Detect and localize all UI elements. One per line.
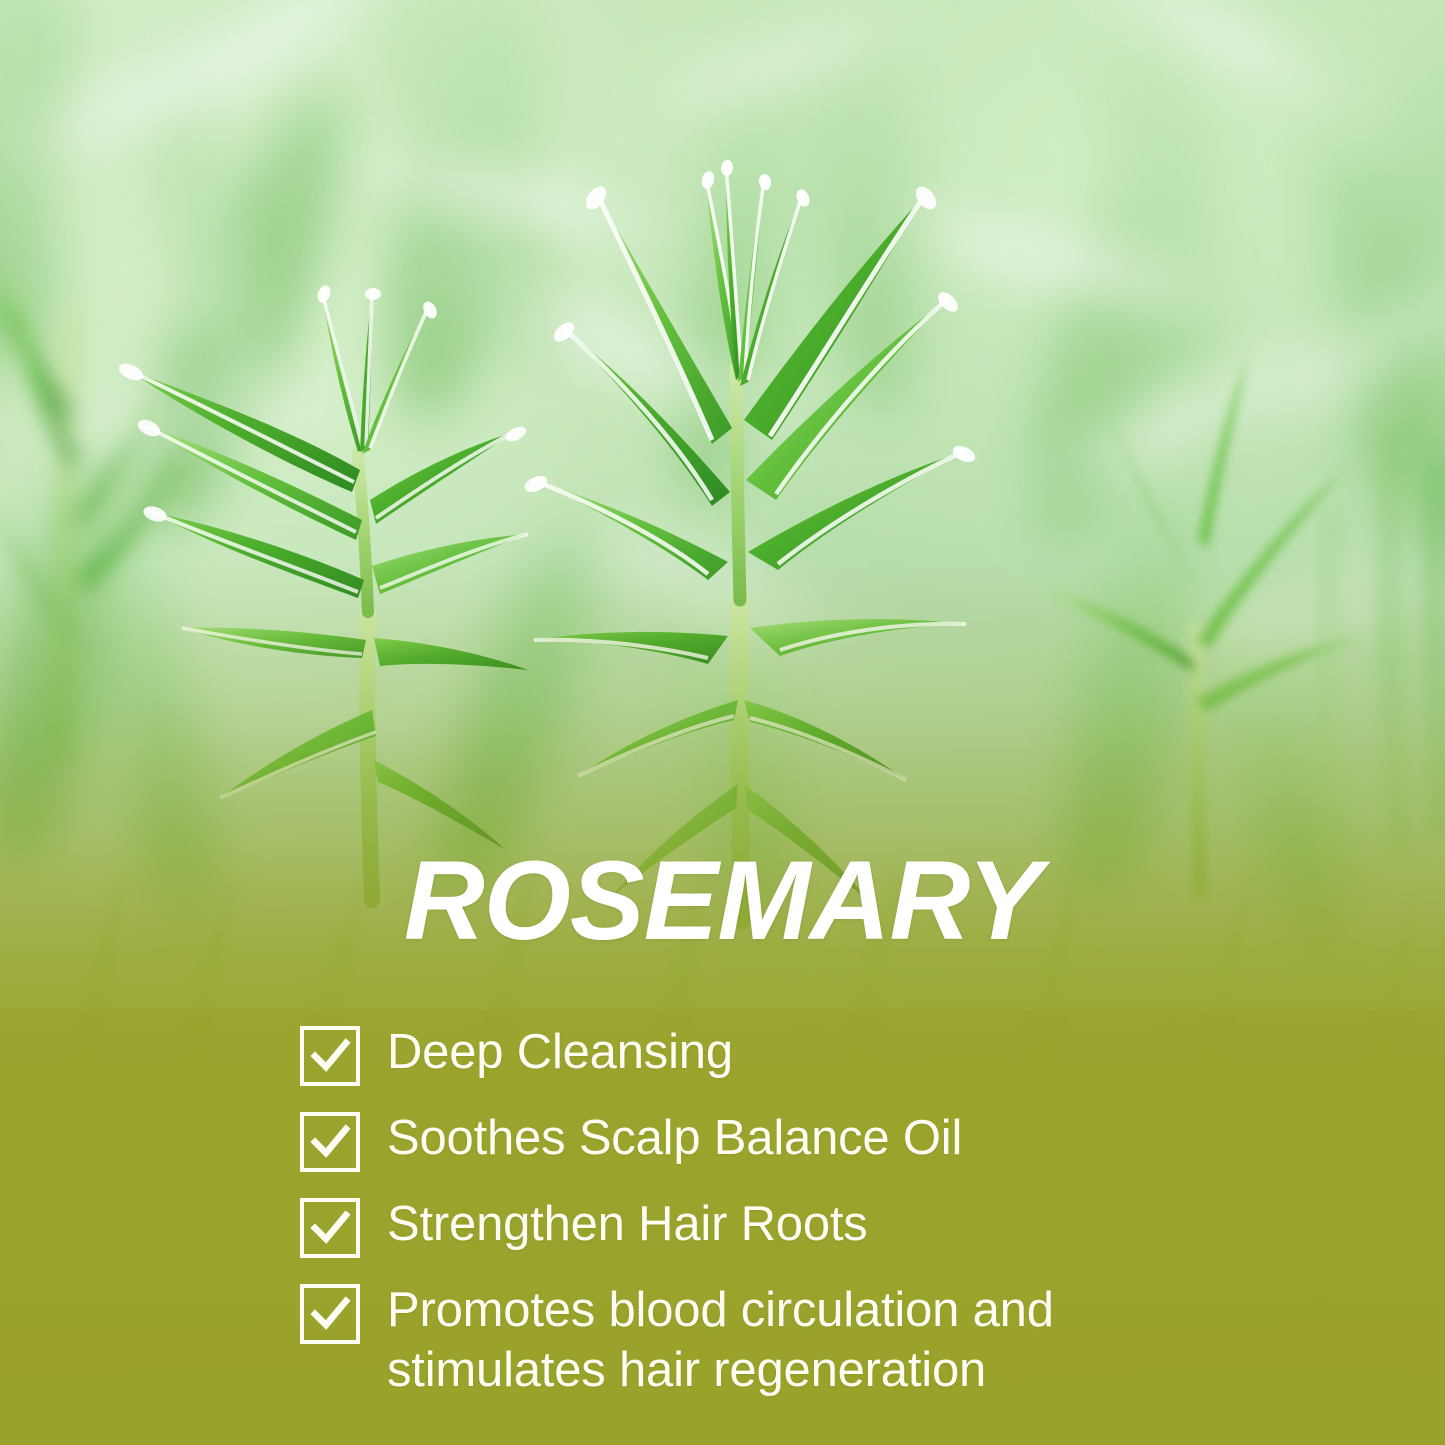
page-title: ROSEMARY bbox=[0, 845, 1445, 957]
feature-list: Deep Cleansing Soothes Scalp Balance Oil… bbox=[300, 1022, 1300, 1400]
product-feature-graphic: ROSEMARY Deep Cleansing Soothes Scalp Ba… bbox=[0, 0, 1445, 1445]
checkbox-checked-icon bbox=[300, 1284, 360, 1344]
checkbox-checked-icon bbox=[300, 1112, 360, 1172]
checkbox-checked-icon bbox=[300, 1026, 360, 1086]
list-item-label: Soothes Scalp Balance Oil bbox=[387, 1108, 962, 1168]
checkbox-checked-icon bbox=[300, 1198, 360, 1258]
list-item-label: Promotes blood circulation and stimulate… bbox=[387, 1280, 1217, 1400]
list-item: Strengthen Hair Roots bbox=[300, 1194, 1300, 1258]
list-item-label: Strengthen Hair Roots bbox=[387, 1194, 868, 1254]
list-item: Promotes blood circulation and stimulate… bbox=[300, 1280, 1300, 1400]
list-item-label: Deep Cleansing bbox=[387, 1022, 733, 1082]
content-layer: ROSEMARY Deep Cleansing Soothes Scalp Ba… bbox=[0, 0, 1445, 1445]
list-item: Soothes Scalp Balance Oil bbox=[300, 1108, 1300, 1172]
list-item: Deep Cleansing bbox=[300, 1022, 1300, 1086]
